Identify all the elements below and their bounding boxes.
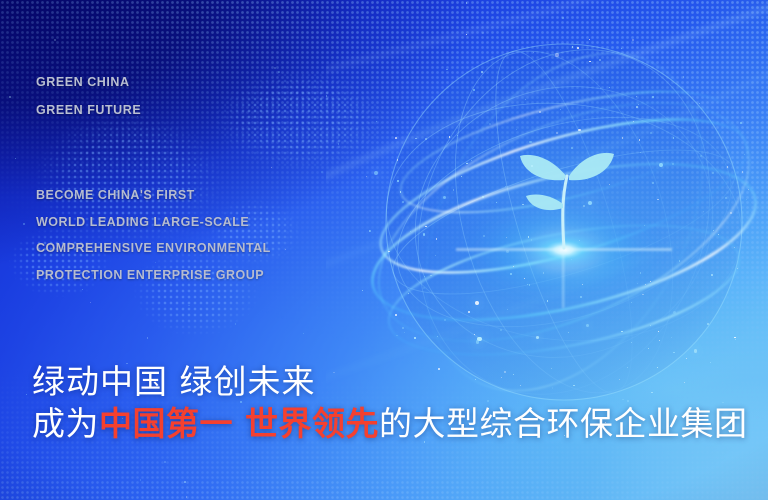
sparkle-dot xyxy=(303,333,304,334)
sparkle-dot xyxy=(26,394,27,395)
sparkle-dot xyxy=(147,337,148,338)
sparkle-dot xyxy=(164,461,166,463)
headline-line-2: 成为中国第一 世界领先的大型综合环保企业集团 xyxy=(32,402,752,446)
tagline-line-1: GREEN CHINA xyxy=(36,68,141,96)
mission-line-2: WORLD LEADING LARGE-SCALE xyxy=(36,209,271,236)
sparkle-dot xyxy=(140,479,142,481)
mission-line-3: COMPREHENSIVE ENVIRONMENTAL xyxy=(36,235,271,262)
mission-line-1: BECOME CHINA'S FIRST xyxy=(36,182,271,209)
headline-accent-second: 世界领先 xyxy=(245,404,379,443)
sparkle-dot xyxy=(271,167,272,168)
headline-chinese: 绿动中国 绿创未来 成为中国第一 世界领先的大型综合环保企业集团 xyxy=(32,362,752,446)
sparkle-dot xyxy=(15,158,16,159)
hero-banner: GREEN CHINA GREEN FUTURE BECOME CHINA'S … xyxy=(0,0,768,500)
sparkle-dot xyxy=(188,305,190,307)
sparkle-dot xyxy=(9,96,11,98)
sparkle-dot xyxy=(54,39,56,41)
tagline-english: GREEN CHINA GREEN FUTURE xyxy=(36,68,141,124)
headline-line-1: 绿动中国 绿创未来 xyxy=(32,362,752,402)
sparkle-dot xyxy=(321,171,323,173)
sparkle-dot xyxy=(235,323,236,324)
sparkle-dot xyxy=(285,249,286,250)
tagline-line-2: GREEN FUTURE xyxy=(36,96,141,124)
mission-english: BECOME CHINA'S FIRST WORLD LEADING LARGE… xyxy=(36,182,271,288)
headline-prefix: 成为 xyxy=(32,404,99,443)
sparkle-dot xyxy=(23,223,25,225)
sparkle-dot xyxy=(186,496,187,497)
sparkle-dot xyxy=(82,289,83,290)
headline-gap xyxy=(233,404,245,443)
sparkle-dot xyxy=(278,71,280,73)
headline-suffix: 的大型综合环保企业集团 xyxy=(379,404,748,443)
sparkle-dot xyxy=(90,302,91,303)
mission-line-4: PROTECTION ENTERPRISE GROUP xyxy=(36,262,271,289)
headline-accent-first: 中国第一 xyxy=(99,404,233,443)
sparkle-dot xyxy=(184,481,186,483)
sparkle-dot xyxy=(274,67,276,69)
